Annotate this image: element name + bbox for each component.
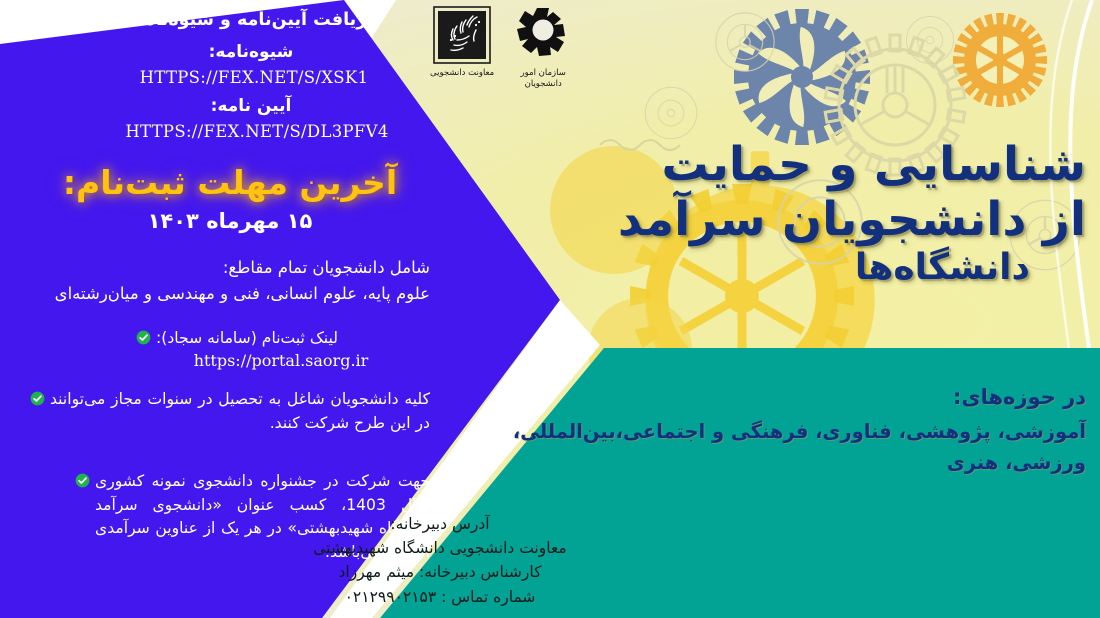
check-circle-icon [136, 330, 151, 345]
logo-row: معاونت دانشجویی سازمان امور دانشجویان [430, 6, 660, 110]
fields-list: آموزشی، پژوهشی، فناوری، فرهنگی و اجتماعی… [466, 416, 1086, 478]
secretariat-heading: آدرس دبیرخانه: [250, 512, 630, 536]
starburst-ring-logo [512, 6, 574, 64]
bullet-text-1: لینک ثبت‌نام (سامانه سجاد): [156, 327, 338, 351]
poster-title: شناسایی و حمایت از دانشجویان سرآمد دانشگ… [566, 138, 1086, 290]
eligibility-line-1: شامل دانشجویان تمام مقاطع: [20, 256, 430, 281]
check-circle-icon [30, 391, 45, 406]
secretariat-line-1: معاونت دانشجویی دانشگاه شهیدبهشتی [250, 536, 630, 561]
regulation-url-link[interactable]: HTTPS://FEX.NET/S/DL3PFV4 [82, 122, 432, 141]
method-label: شیوه‌نامه: [86, 42, 416, 62]
shahid-beheshti-university-logo [433, 6, 491, 64]
poster-canvas: معاونت دانشجویی سازمان امور دانشجویان شن… [0, 0, 1100, 618]
title-line-1: شناسایی و حمایت [566, 138, 1086, 193]
deadline-date: ۱۵ مهرماه ۱۴۰۳ [30, 209, 430, 233]
deadline-heading: آخرین مهلت ثبت‌نام: [30, 163, 430, 202]
fields-heading: در حوزه‌های: [466, 382, 1086, 414]
bullet-text-2: کلیه دانشجویان شاغل به تحصیل در سنوات مج… [50, 388, 430, 435]
title-line-2: از دانشجویان سرآمد [566, 193, 1086, 248]
logo-caption-student-affairs: سازمان امور دانشجویان [521, 68, 566, 89]
secretariat-line-2: کارشناس دبیرخانه: میثم مهرزاد [250, 560, 630, 585]
check-circle-icon [75, 473, 90, 488]
bullet-item-2: کلیه دانشجویان شاغل به تحصیل در سنوات مج… [30, 388, 430, 435]
logo-student-affairs: سازمان امور دانشجویان [512, 6, 574, 89]
fields-section: در حوزه‌های: آموزشی، پژوهشی، فناوری، فره… [466, 382, 1086, 478]
bullet-item-1: لینک ثبت‌نام (سامانه سجاد): [136, 327, 426, 351]
title-line-3: دانشگاه‌ها [566, 247, 1086, 289]
regulation-label: آیین نامه: [86, 96, 416, 116]
registration-url-link[interactable]: https://portal.saorg.ir [136, 351, 426, 370]
secretariat-section: آدرس دبیرخانه: معاونت دانشجویی دانشگاه ش… [250, 512, 630, 610]
downloads-heading: دریافت آیین‌نامه و شیوه‌نامه: [86, 8, 416, 33]
method-url-link[interactable]: HTTPS://FEX.NET/S/XSK1 [84, 68, 424, 87]
secretariat-phone: شماره تماس : ۰۲۱۲۹۹۰۲۱۵۳ [250, 585, 630, 610]
eligibility-line-2: علوم پایه، علوم انسانی، فنی و مهندسی و م… [20, 282, 430, 307]
